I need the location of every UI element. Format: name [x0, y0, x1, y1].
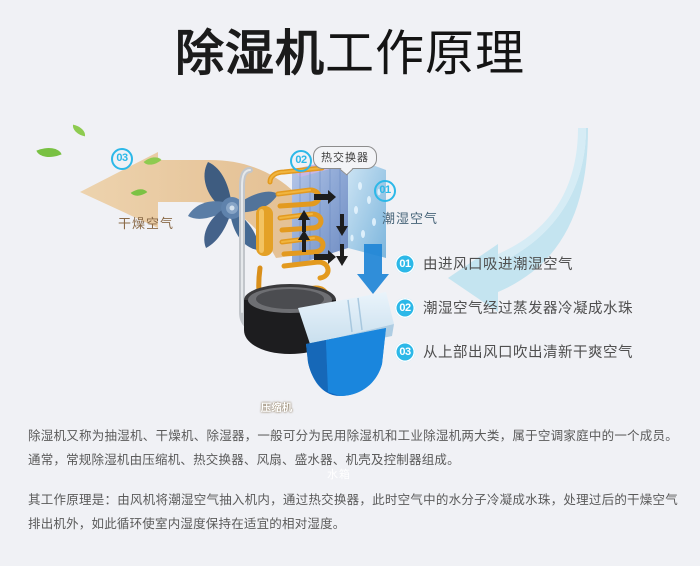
humid-air-label: 潮湿空气 [382, 208, 438, 227]
paragraph-2: 其工作原理是：由风机将潮湿空气抽入机内，通过热交换器，此时空气中的水分子冷凝成水… [28, 488, 678, 536]
heat-exchanger-callout-bubble: 热交换器 [313, 146, 377, 169]
list-item: 03 从上部出风口吹出清新干爽空气 [395, 341, 685, 362]
poster-root: 除湿机工作原理 [0, 0, 700, 566]
paragraph-1: 除湿机又称为抽湿机、干燥机、除湿器，一般可分为民用除湿机和工业除湿机两大类，属于… [28, 424, 678, 472]
step-text: 由进风口吸进潮湿空气 [423, 253, 573, 274]
compressor-label: 压缩机 [261, 399, 293, 414]
page-title-text: 除湿机工作原理 [175, 28, 525, 82]
step-badge-03: 03 [395, 342, 415, 362]
callout-badge-03: 03 [111, 148, 133, 170]
page-title-light: 工作原理 [325, 27, 525, 81]
list-item: 01 由进风口吸进潮湿空气 [395, 253, 685, 274]
page-title-bold: 除湿机 [175, 27, 325, 81]
callout-badge-02: 02 [290, 150, 312, 172]
step-badge-02: 02 [395, 298, 415, 318]
step-badge-01: 01 [395, 254, 415, 274]
list-item: 02 潮湿空气经过蒸发器冷凝成水珠 [395, 297, 685, 318]
callout-badge-01: 01 [374, 180, 396, 202]
step-text: 从上部出风口吹出清新干爽空气 [423, 341, 633, 362]
dry-air-label: 干燥空气 [118, 213, 174, 232]
description-block: 除湿机又称为抽湿机、干燥机、除湿器，一般可分为民用除湿机和工业除湿机两大类，属于… [28, 424, 678, 552]
leaf-icon [71, 125, 87, 137]
steps-list: 01 由进风口吸进潮湿空气 02 潮湿空气经过蒸发器冷凝成水珠 03 从上部出风… [395, 253, 685, 385]
step-text: 潮湿空气经过蒸发器冷凝成水珠 [423, 297, 633, 318]
page-title: 除湿机工作原理 [0, 28, 700, 82]
dehumidifier-unit-illustration [236, 148, 396, 398]
